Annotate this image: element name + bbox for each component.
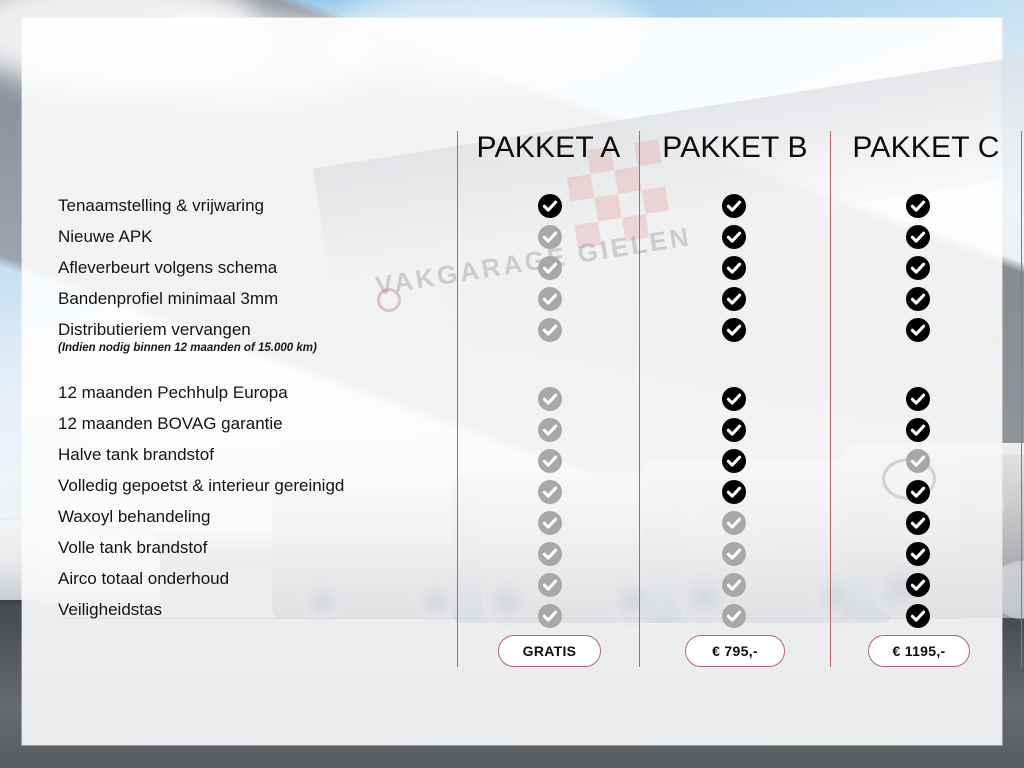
check-included-icon xyxy=(906,418,930,442)
check-included-icon xyxy=(906,287,930,311)
check-included-icon xyxy=(906,225,930,249)
check-included-icon xyxy=(906,511,930,535)
feature-label: Bandenprofiel minimaal 3mm xyxy=(58,283,458,314)
check-cell xyxy=(906,221,930,252)
check-cell xyxy=(722,445,746,476)
check-excluded-icon xyxy=(538,418,562,442)
feature-label: 12 maanden BOVAG garantie xyxy=(58,408,458,439)
check-cell xyxy=(722,507,746,538)
check-included-icon xyxy=(906,542,930,566)
check-excluded-icon xyxy=(538,449,562,473)
check-excluded-icon xyxy=(538,511,562,535)
check-cell xyxy=(906,600,930,631)
check-included-icon xyxy=(538,194,562,218)
feature-label: Afleverbeurt volgens schema xyxy=(58,252,458,283)
price-badge-pakket-c[interactable]: € 1195,- xyxy=(868,635,970,667)
column-header-pakket-c: PAKKET C xyxy=(831,131,1021,165)
feature-label: Tenaamstelling & vrijwaring xyxy=(58,190,458,221)
check-cell xyxy=(722,221,746,252)
check-excluded-icon xyxy=(538,542,562,566)
check-excluded-icon xyxy=(538,604,562,628)
check-included-icon xyxy=(722,418,746,442)
check-cell xyxy=(906,476,930,507)
check-cell xyxy=(906,414,930,445)
check-cell xyxy=(906,569,930,600)
check-cell xyxy=(906,445,930,476)
check-excluded-icon xyxy=(722,542,746,566)
feature-label: Halve tank brandstof xyxy=(58,439,458,470)
price-badge-pakket-b[interactable]: € 795,- xyxy=(685,635,785,667)
column-divider xyxy=(830,131,831,667)
check-cell xyxy=(538,569,562,600)
check-excluded-icon xyxy=(538,318,562,342)
check-included-icon xyxy=(906,194,930,218)
feature-label: 12 maanden Pechhulp Europa xyxy=(58,377,458,408)
check-cell xyxy=(906,283,930,314)
package-comparison-table: PAKKET A PAKKET B PAKKET C Tenaamstellin… xyxy=(22,18,1002,745)
group-spacer xyxy=(58,357,458,377)
column-header-pakket-b: PAKKET B xyxy=(640,131,830,165)
check-cell xyxy=(538,190,562,221)
feature-label: Waxoyl behandeling xyxy=(58,501,458,532)
check-included-icon xyxy=(722,387,746,411)
check-included-icon xyxy=(906,387,930,411)
check-cell xyxy=(538,507,562,538)
check-excluded-icon xyxy=(538,573,562,597)
check-excluded-icon xyxy=(722,573,746,597)
check-included-icon xyxy=(906,573,930,597)
check-included-icon xyxy=(906,480,930,504)
column-divider xyxy=(1021,131,1022,667)
check-cell xyxy=(722,414,746,445)
check-cell xyxy=(722,538,746,569)
check-cell xyxy=(722,252,746,283)
feature-label: Airco totaal onderhoud xyxy=(58,563,458,594)
check-cell xyxy=(538,538,562,569)
check-cell xyxy=(906,314,930,345)
check-cell xyxy=(722,190,746,221)
check-cell xyxy=(538,221,562,252)
check-cell xyxy=(538,252,562,283)
check-cell xyxy=(538,445,562,476)
content-panel: VAKGARAGE GIELEN PAKKET A PAKKET B xyxy=(22,18,1002,745)
check-cell xyxy=(722,283,746,314)
check-cell xyxy=(906,190,930,221)
check-cell xyxy=(906,383,930,414)
check-included-icon xyxy=(722,256,746,280)
check-cell xyxy=(538,383,562,414)
check-cell xyxy=(906,538,930,569)
check-column-pakket-c xyxy=(888,190,948,631)
check-cell xyxy=(906,507,930,538)
check-cell xyxy=(538,414,562,445)
check-included-icon xyxy=(906,318,930,342)
check-excluded-icon xyxy=(538,225,562,249)
feature-label-column: Tenaamstelling & vrijwaring Nieuwe APK A… xyxy=(58,190,458,625)
check-excluded-icon xyxy=(722,511,746,535)
check-excluded-icon xyxy=(906,449,930,473)
price-badge-pakket-a[interactable]: GRATIS xyxy=(498,635,601,667)
feature-label: Nieuwe APK xyxy=(58,221,458,252)
check-included-icon xyxy=(722,194,746,218)
feature-label: Veiligheidstas xyxy=(58,594,458,625)
check-column-pakket-b xyxy=(704,190,764,631)
check-cell xyxy=(538,283,562,314)
check-column-pakket-a xyxy=(520,190,580,631)
check-excluded-icon xyxy=(722,604,746,628)
check-excluded-icon xyxy=(538,256,562,280)
check-excluded-icon xyxy=(538,480,562,504)
check-cell xyxy=(538,476,562,507)
feature-footnote: (Indien nodig binnen 12 maanden of 15.00… xyxy=(58,339,458,357)
check-included-icon xyxy=(906,256,930,280)
check-cell xyxy=(722,476,746,507)
column-header-pakket-a: PAKKET A xyxy=(458,131,639,165)
check-included-icon xyxy=(722,480,746,504)
check-included-icon xyxy=(722,449,746,473)
feature-label: Volledig gepoetst & interieur gereinigd xyxy=(58,470,458,501)
check-excluded-icon xyxy=(538,287,562,311)
check-cell xyxy=(906,252,930,283)
check-excluded-icon xyxy=(538,387,562,411)
check-cell xyxy=(722,600,746,631)
feature-label: Volle tank brandstof xyxy=(58,532,458,563)
check-cell xyxy=(722,383,746,414)
check-cell xyxy=(722,569,746,600)
check-cell xyxy=(538,314,562,345)
check-included-icon xyxy=(722,287,746,311)
check-cell xyxy=(538,600,562,631)
check-included-icon xyxy=(906,604,930,628)
column-divider xyxy=(639,131,640,667)
slide-canvas: VAKGARAGE GIELEN PAKKET A PAKKET B xyxy=(0,0,1024,768)
check-cell xyxy=(722,314,746,345)
check-included-icon xyxy=(722,318,746,342)
check-included-icon xyxy=(722,225,746,249)
